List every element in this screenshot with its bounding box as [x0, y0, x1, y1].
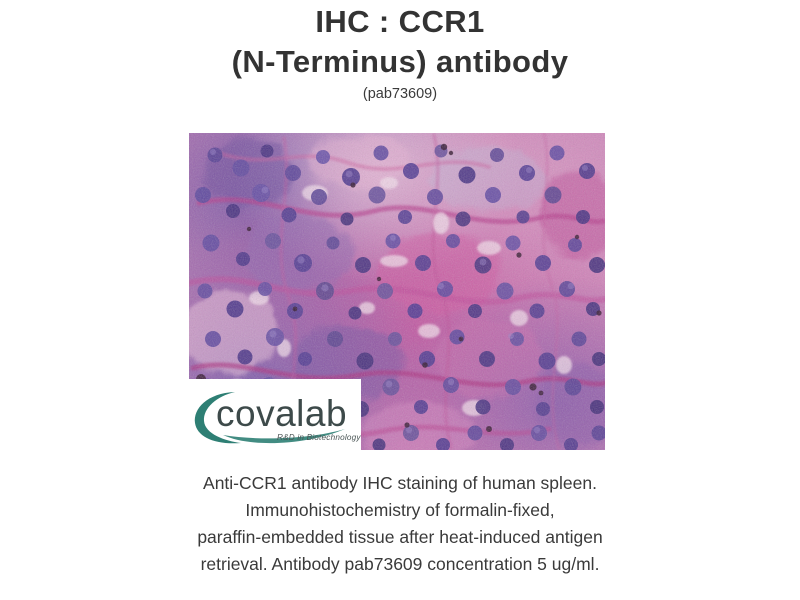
covalab-logo-svg: covalab R&D in Biotechnology	[189, 379, 361, 450]
title-line-1: IHC : CCR1	[0, 2, 800, 42]
logo-tagline: R&D in Biotechnology	[277, 433, 361, 442]
title-line-2: (N-Terminus) antibody	[0, 42, 800, 82]
page-title: IHC : CCR1 (N-Terminus) antibody (pab736…	[0, 0, 800, 104]
caption-line-1: Anti-CCR1 antibody IHC staining of human…	[0, 470, 800, 497]
catalog-number: (pab73609)	[0, 84, 800, 104]
caption-line-2: Immunohistochemistry of formalin-fixed,	[0, 497, 800, 524]
figure-caption: Anti-CCR1 antibody IHC staining of human…	[0, 470, 800, 578]
covalab-logo: covalab R&D in Biotechnology	[189, 379, 361, 450]
caption-line-4: retrieval. Antibody pab73609 concentrati…	[0, 551, 800, 578]
figure-container: covalab R&D in Biotechnology	[189, 133, 605, 450]
logo-wordmark: covalab	[216, 393, 347, 434]
caption-line-3: paraffin-embedded tissue after heat-indu…	[0, 524, 800, 551]
